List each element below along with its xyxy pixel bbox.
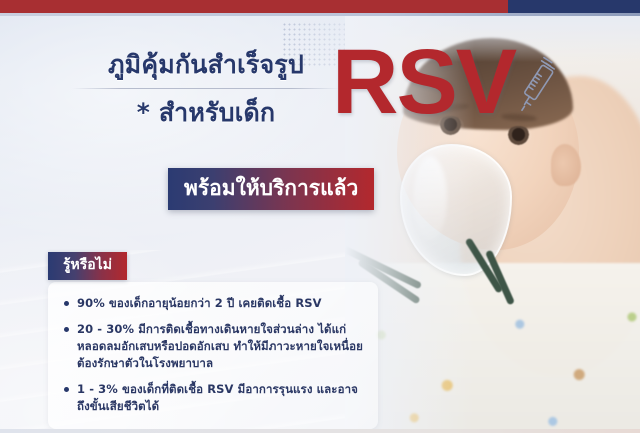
headline-line-2: * สำหรับเด็ก: [56, 96, 356, 130]
facts-card: 90% ของเด็กอายุน้อยกว่า 2 ปี เคยติดเชื้อ…: [48, 282, 378, 429]
rsv-promo-poster: ภูมิคุ้มกันสำเร็จรูป * สำหรับเด็ก RSV: [0, 0, 640, 433]
fact-text: 90% ของเด็กอายุน้อยกว่า 2 ปี เคยติดเชื้อ…: [77, 295, 322, 312]
baby-ear: [551, 144, 581, 186]
fact-item: 90% ของเด็กอายุน้อยกว่า 2 ปี เคยติดเชื้อ…: [54, 295, 364, 312]
did-you-know-badge: รู้หรือไม่: [48, 252, 127, 280]
fact-item: 1 - 3% ของเด็กที่ติดเชื้อ RSV มีอาการรุน…: [54, 381, 364, 415]
rsv-wordmark-block: RSV: [332, 36, 561, 128]
headline-divider: [72, 88, 340, 89]
top-accent-bar-navy-segment: [508, 0, 640, 13]
bullet-dot-icon: [64, 327, 69, 332]
nebulizer-mask-highlight: [413, 156, 447, 240]
fact-text: 1 - 3% ของเด็กที่ติดเชื้อ RSV มีอาการรุน…: [77, 381, 364, 415]
did-you-know-block: รู้หรือไม่ 90% ของเด็กอายุน้อยกว่า 2 ปี …: [48, 252, 378, 429]
headline-block: ภูมิคุ้มกันสำเร็จรูป * สำหรับเด็ก: [56, 48, 356, 130]
bullet-dot-icon: [64, 387, 69, 392]
top-accent-bar-underline: [0, 13, 640, 16]
fact-item: 20 - 30% มีการติดเชื้อทางเดินหายใจส่วนล่…: [54, 321, 364, 372]
fact-text: 20 - 30% มีการติดเชื้อทางเดินหายใจส่วนล่…: [77, 321, 364, 372]
bottom-edge-line: [0, 429, 640, 433]
rsv-wordmark: RSV: [332, 36, 515, 128]
availability-ribbon: พร้อมให้บริการแล้ว: [168, 168, 374, 210]
top-accent-bar: [0, 0, 640, 13]
headline-line-1: ภูมิคุ้มกันสำเร็จรูป: [56, 48, 356, 82]
top-accent-bar-red-segment: [0, 0, 508, 13]
bullet-dot-icon: [64, 301, 69, 306]
syringe-icon: [521, 56, 561, 124]
baby-patterned-gown: [345, 263, 640, 433]
